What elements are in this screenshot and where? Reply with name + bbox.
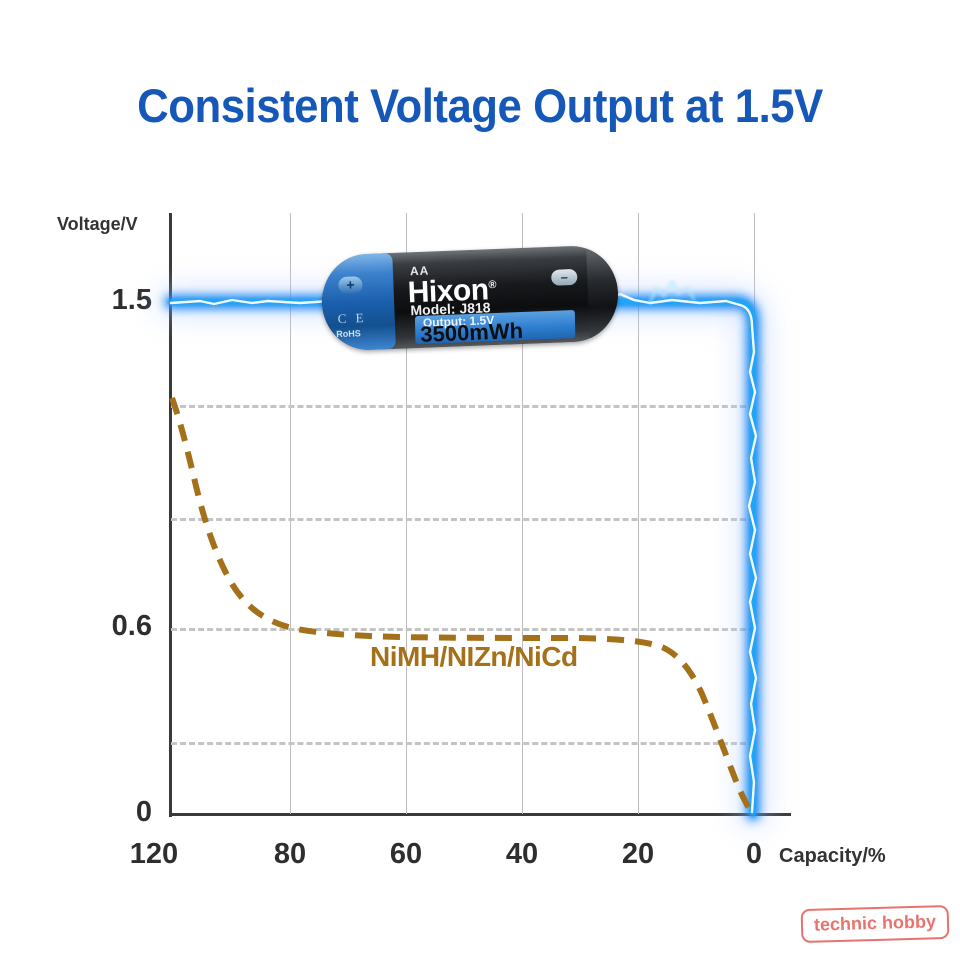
y-tick-0: 0	[70, 796, 152, 829]
watermark-badge: technic hobby	[801, 905, 950, 943]
battery-image: + – C E RoHS AA Hixon® Model: J818 Outpu…	[320, 244, 619, 351]
plus-terminal-icon: +	[338, 276, 363, 294]
page-title: Consistent Voltage Output at 1.5V	[34, 78, 927, 133]
registered-mark: ®	[488, 279, 496, 291]
x-tick-40: 40	[480, 838, 564, 871]
rohs-mark: RoHS	[336, 328, 361, 339]
x-tick-80: 80	[248, 838, 332, 871]
y-tick-1.5: 1.5	[70, 284, 152, 317]
x-tick-20: 20	[596, 838, 680, 871]
horizontal-gridline-4	[171, 742, 755, 745]
x-tick-120: 120	[112, 838, 196, 871]
horizontal-gridline-1	[171, 405, 755, 408]
x-tick-60: 60	[364, 838, 448, 871]
minus-terminal-icon: –	[551, 269, 578, 286]
x-axis-line	[169, 813, 791, 816]
y-tick-0.6: 0.6	[70, 610, 152, 643]
vertical-gridline-20	[638, 213, 639, 814]
x-tick-0: 0	[712, 838, 796, 871]
series-label-nimh: NiMH/NIZn/NiCd	[370, 641, 578, 673]
horizontal-gridline-3	[171, 628, 755, 631]
y-axis-line	[169, 213, 172, 817]
battery-capacity-label: 3500mWh	[420, 320, 523, 346]
battery-negative-cap	[586, 244, 620, 341]
ce-mark-icon: C E	[337, 310, 366, 327]
infographic-root: Consistent Voltage Output at 1.5V Voltag…	[0, 0, 960, 960]
y-axis-label: Voltage/V	[57, 214, 138, 235]
horizontal-gridline-2	[171, 518, 755, 521]
vertical-gridline-0	[754, 213, 755, 814]
vertical-gridline-80	[290, 213, 291, 814]
